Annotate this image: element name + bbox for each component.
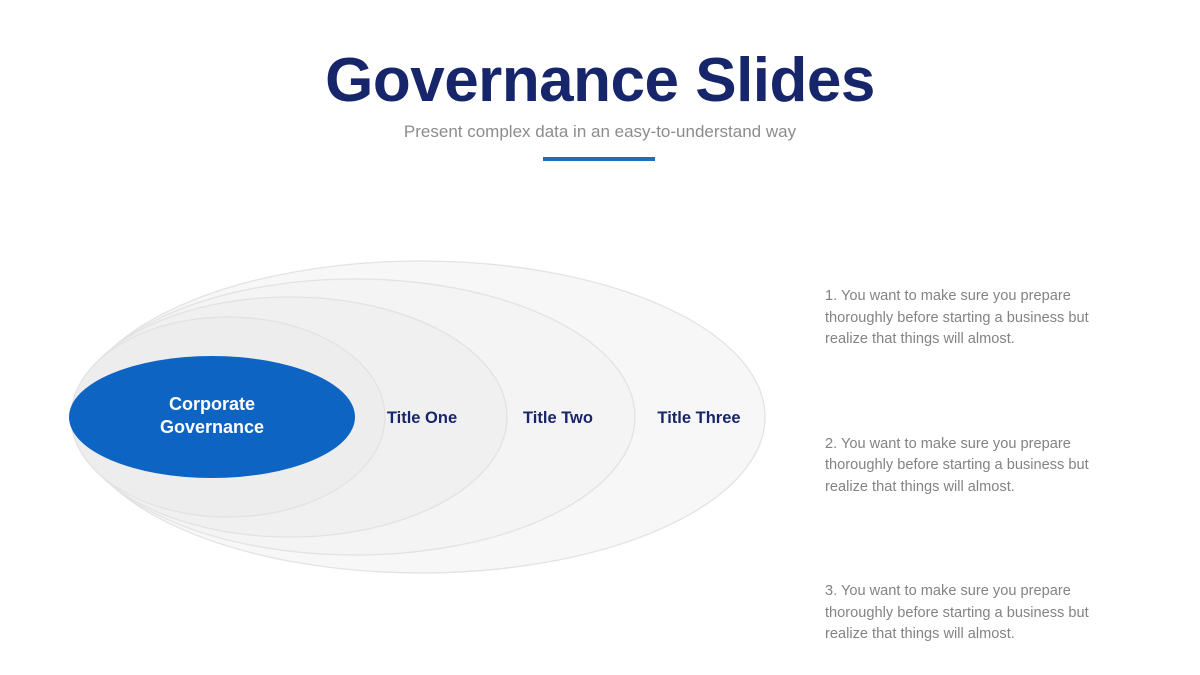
core-label-line-2: Governance — [160, 417, 264, 437]
title-accent-bar — [543, 157, 655, 161]
nested-ellipse-diagram: Corporate Governance Title One Title Two… — [0, 230, 800, 610]
page-subtitle: Present complex data in an easy-to-under… — [0, 120, 1200, 144]
page-title: Governance Slides — [0, 44, 1200, 118]
description-item-2: 2. You want to make sure you prepare tho… — [825, 434, 1123, 499]
ellipse-label-title-three: Title Three — [657, 409, 740, 427]
description-item-1: 1. You want to make sure you prepare tho… — [825, 286, 1123, 351]
description-item-3: 3. You want to make sure you prepare tho… — [825, 581, 1123, 646]
description-list: 1. You want to make sure you prepare tho… — [825, 286, 1125, 646]
ellipse-label-title-one: Title One — [387, 409, 457, 427]
slide-canvas: Governance Slides Present complex data i… — [0, 0, 1200, 675]
ellipse-label-title-two: Title Two — [523, 409, 593, 427]
core-label-line-1: Corporate — [169, 394, 255, 414]
